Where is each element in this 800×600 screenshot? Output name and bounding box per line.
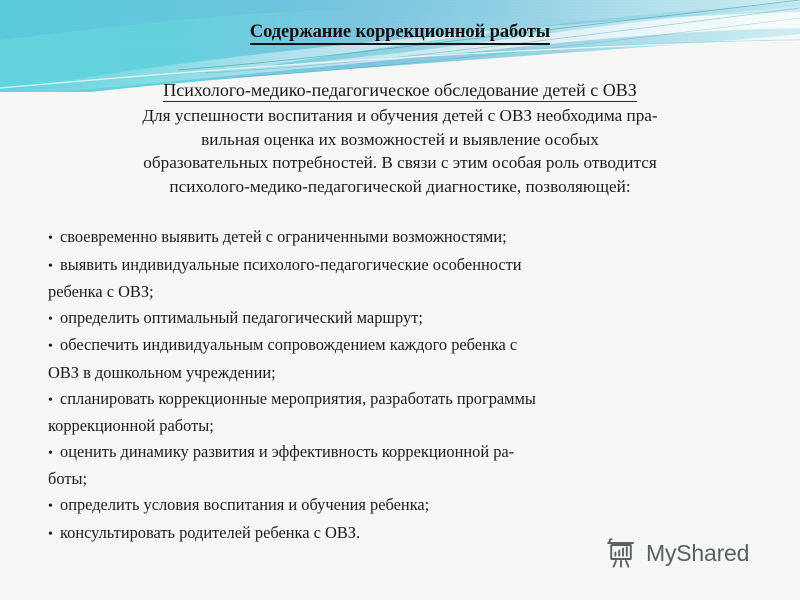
list-item: •своевременно выявить детей с ограниченн… [48,224,754,252]
list-item: •обеспечить индивидуальным сопровождение… [48,332,754,385]
bullet-marker: • [48,494,60,520]
bullet-marker: • [48,522,60,548]
list-item-label: выявить индивидуальные психолого-педагог… [60,255,522,274]
bullet-marker: • [48,307,60,333]
list-item: •выявить индивидуальные психолого-педаго… [48,252,754,305]
intro-paragraph: Для успешности воспитания и обучения дет… [62,104,738,198]
intro-line: вильная оценка их возможностей и выявлен… [62,128,738,152]
slide-title: Содержание коррекционной работы [0,22,800,43]
list-item-label: спланировать коррекционные мероприятия, … [60,389,536,408]
bullet-marker: • [48,441,60,467]
slide-title-text: Содержание коррекционной работы [250,22,550,45]
bullet-marker: • [48,226,60,252]
intro-line: Для успешности воспитания и обучения дет… [62,104,738,128]
section-heading: Психолого-медико-педагогическое обследов… [0,80,800,101]
list-item: •определить оптимальный педагогический м… [48,305,754,333]
list-item: •оценить динамику развития и эффективнос… [48,439,754,492]
myshared-watermark: MyShared [604,536,749,570]
bullet-marker: • [48,334,60,360]
bullet-list: •своевременно выявить детей с ограниченн… [48,224,754,547]
list-item: •спланировать коррекционные мероприятия,… [48,386,754,439]
myshared-brand-text: MyShared [646,540,749,567]
list-item-label-cont: коррекционной работы; [48,413,754,439]
slide-content: Содержание коррекционной работы Психолог… [0,0,800,600]
bullet-marker: • [48,388,60,414]
list-item-label-cont: ОВЗ в дошкольном учреждении; [48,360,754,386]
list-item-label: оценить динамику развития и эффективност… [60,442,514,461]
list-item-label-cont: ребенка с ОВЗ; [48,279,754,305]
intro-line: психолого-медико-педагогической диагност… [62,175,738,199]
list-item-label: определить оптимальный педагогический ма… [60,308,423,327]
bullet-marker: • [48,254,60,280]
list-item-label: определить условия воспитания и обучения… [60,495,429,514]
list-item-label: консультировать родителей ребенка с ОВЗ. [60,523,360,542]
presentation-board-chart-icon [604,536,638,570]
list-item-label: обеспечить индивидуальным сопровождением… [60,335,517,354]
intro-line: образовательных потребностей. В связи с … [62,151,738,175]
presentation-slide: Содержание коррекционной работы Психолог… [0,0,800,600]
section-heading-text: Психолого-медико-педагогическое обследов… [163,80,637,102]
list-item: •определить условия воспитания и обучени… [48,492,754,520]
list-item-label-cont: боты; [48,466,754,492]
list-item-label: своевременно выявить детей с ограниченны… [60,227,507,246]
